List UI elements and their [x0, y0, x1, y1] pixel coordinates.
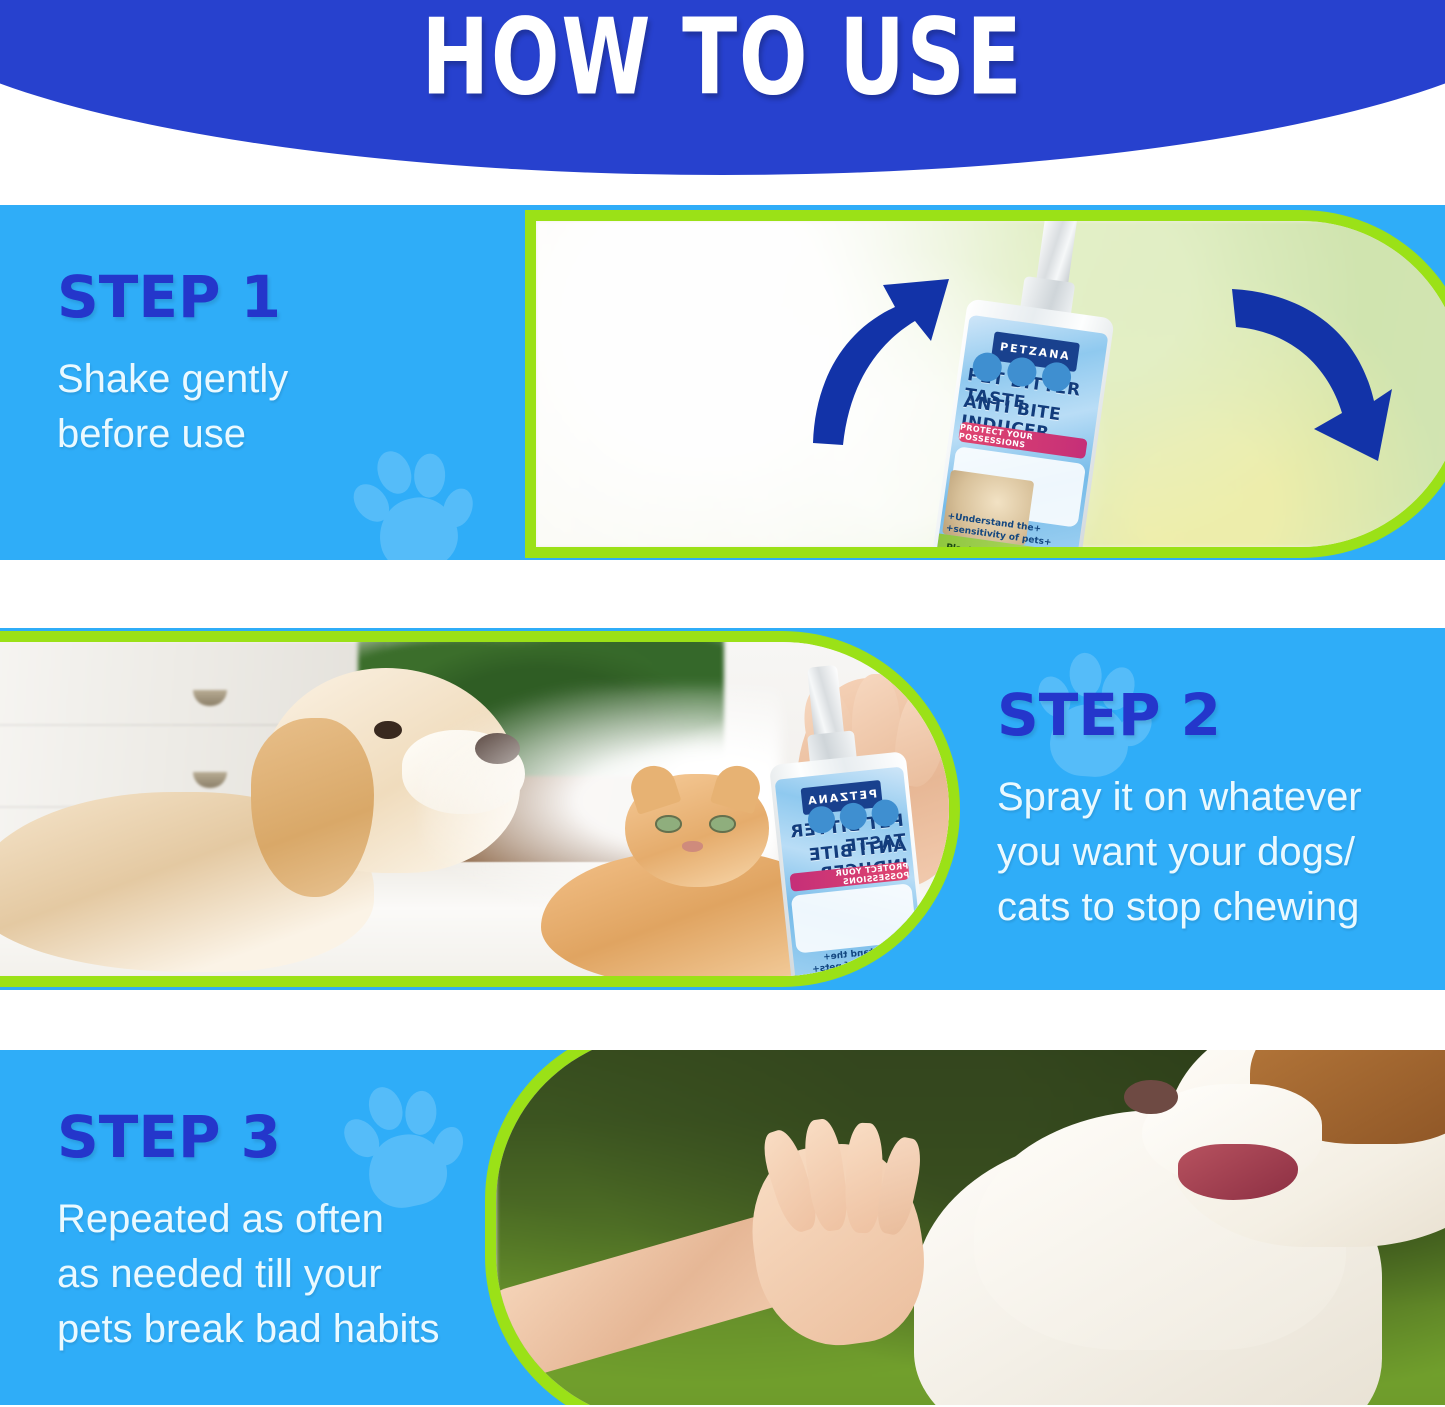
step-3-text: STEP 3 Repeated as often as needed till … — [57, 1108, 527, 1358]
step-2-panel: STEP 2 Spray it on whatever you want you… — [0, 628, 1445, 990]
step-1-text: STEP 1 Shake gently before use — [57, 268, 487, 462]
shake-arrow-down-icon — [1208, 283, 1394, 473]
page-title: HOW TO USE — [101, 6, 1344, 111]
step-3-body: Repeated as often as needed till your pe… — [57, 1192, 527, 1358]
collie-dog — [914, 1050, 1445, 1405]
product-bottle: PETZANA PET BITTER TASTE ANTI BITE INDUC… — [739, 664, 949, 976]
step-1-image-pod: PETZANA PET BITTER TASTE ANTI BITE INDUC… — [525, 210, 1445, 558]
step-3-image-pod — [485, 1050, 1445, 1405]
step-2-body: Spray it on whatever you want your dogs/… — [997, 770, 1445, 936]
step-3-title: STEP 3 — [57, 1108, 527, 1166]
step-1-title: STEP 1 — [57, 268, 487, 326]
step-1-body: Shake gently before use — [57, 352, 487, 462]
step-1-panel: STEP 1 Shake gently before use — [0, 205, 1445, 560]
step-3-image — [496, 1050, 1445, 1405]
step-2-image-pod: PETZANA PET BITTER TASTE ANTI BITE INDUC… — [0, 631, 960, 987]
step-2-text: STEP 2 Spray it on whatever you want you… — [997, 686, 1445, 936]
header-banner: HOW TO USE — [0, 0, 1445, 175]
step-2-title: STEP 2 — [997, 686, 1445, 744]
step-1-image: PETZANA PET BITTER TASTE ANTI BITE INDUC… — [536, 221, 1445, 547]
step-3-panel: STEP 3 Repeated as often as needed till … — [0, 1050, 1445, 1405]
step-2-image: PETZANA PET BITTER TASTE ANTI BITE INDUC… — [0, 642, 949, 976]
